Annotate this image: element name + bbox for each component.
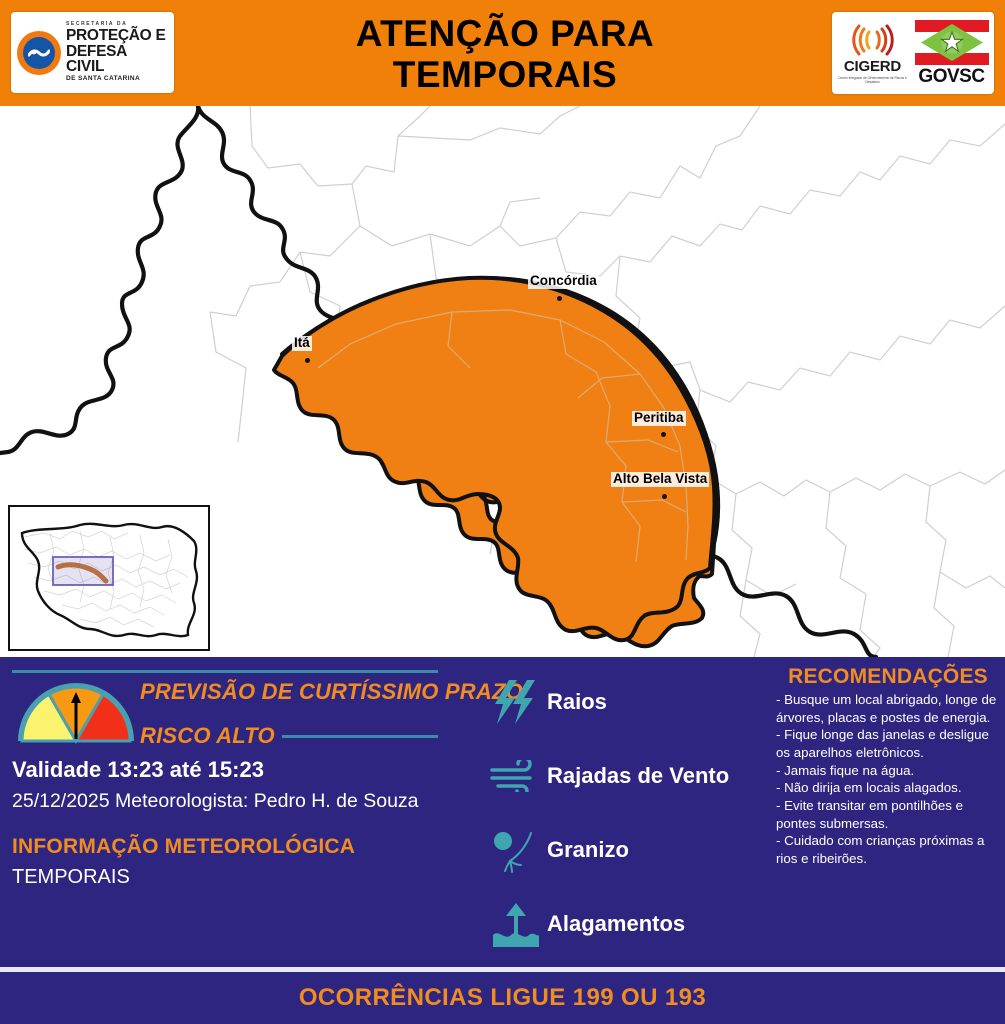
- santa-catarina-locator-map: [8, 505, 210, 651]
- cigerd-subtitle: Centro Integrado de Gerenciamento de Ris…: [838, 76, 908, 85]
- locator-extent-box: [53, 557, 113, 585]
- govsc-name: GOVSC: [915, 67, 989, 86]
- city-label-concordia: Concórdia: [528, 274, 599, 289]
- meteorological-info-title: INFORMAÇÃO METEOROLÓGICA: [12, 835, 355, 859]
- city-label-peritiba: Peritiba: [632, 411, 686, 426]
- santa-catarina-flag-icon: [915, 20, 989, 65]
- emergency-phone-text: OCORRÊNCIAS LIGUE 199 OU 193: [299, 984, 706, 1012]
- forecast-title: PREVISÃO DE CURTÍSSIMO PRAZO: [140, 679, 523, 705]
- city-dot-alto-bela-vista: [662, 494, 667, 499]
- alert-map[interactable]: Concórdia Itá Peritiba Alto Bela Vista: [0, 106, 1005, 657]
- logo-line-santa-catarina: DE SANTA CATARINA: [66, 76, 168, 83]
- page-title-line1: ATENÇÃO PARA: [356, 13, 655, 54]
- hazard-item-raios: Raios: [485, 669, 775, 735]
- cigerd-mark-icon: [838, 22, 908, 58]
- logo-line-protecao: PROTEÇÃO E: [66, 28, 168, 44]
- date-and-meteorologist: 25/12/2025 Meteorologista: Pedro H. de S…: [12, 790, 419, 813]
- civil-defense-mark-icon: [28, 46, 50, 60]
- locator-map-canvas: [10, 507, 208, 649]
- recommendation-item: - Jamais fique na água.: [776, 762, 1000, 780]
- recommendations-list: - Busque um local abrigado, longe de árv…: [776, 691, 1000, 868]
- lightning-bolt-icon: [485, 678, 547, 726]
- recommendations-block: RECOMENDAÇÕES - Busque um local abrigado…: [776, 665, 1000, 868]
- page-title: ATENÇÃO PARA TEMPORAIS: [190, 8, 820, 100]
- hazard-item-alagamentos: Alagamentos: [485, 891, 775, 957]
- defesa-civil-emblem-icon: [17, 31, 61, 75]
- city-dot-concordia: [557, 296, 562, 301]
- defesa-civil-logo: SECRETARIA DA PROTEÇÃO E DEFESA CIVIL DE…: [11, 12, 174, 93]
- hazard-item-rajadas-de-vento: Rajadas de Vento: [485, 743, 775, 809]
- city-dot-peritiba: [661, 432, 666, 437]
- hazard-list: Raios Rajadas de Vento: [485, 669, 775, 965]
- hazard-label-raios: Raios: [547, 689, 607, 715]
- divider-risco: [282, 735, 438, 738]
- defesa-civil-logo-text: SECRETARIA DA PROTEÇÃO E DEFESA CIVIL DE…: [66, 22, 168, 83]
- govsc-logo: GOVSC: [915, 20, 989, 86]
- recommendations-title: RECOMENDAÇÕES: [776, 665, 1000, 689]
- city-label-alto-bela-vista: Alto Bela Vista: [611, 472, 709, 487]
- recommendation-item: - Não dirija em locais alagados.: [776, 779, 1000, 797]
- hazard-label-granizo: Granizo: [547, 837, 629, 863]
- hazard-label-rajadas-de-vento: Rajadas de Vento: [547, 763, 729, 789]
- risk-gauge: [14, 679, 138, 745]
- meteorological-info-value: TEMPORAIS: [12, 866, 130, 889]
- recommendation-item: - Busque um local abrigado, longe de árv…: [776, 691, 1000, 726]
- logo-line-defesa-civil: DEFESA CIVIL: [66, 44, 168, 75]
- hazard-item-granizo: Granizo: [485, 817, 775, 883]
- alert-poster: SECRETARIA DA PROTEÇÃO E DEFESA CIVIL DE…: [0, 0, 1005, 1024]
- city-label-ita: Itá: [292, 336, 312, 351]
- govsc-suffix: SC: [959, 66, 984, 87]
- risk-level-title: RISCO ALTO: [140, 723, 275, 749]
- recommendation-item: - Fique longe das janelas e desligue os …: [776, 726, 1000, 761]
- wind-gust-icon: [485, 760, 547, 792]
- risk-gauge-svg: [14, 679, 138, 745]
- hail-icon: [485, 827, 547, 873]
- recommendation-item: - Evite transitar em pontilhões e pontes…: [776, 797, 1000, 832]
- validity-text: Validade 13:23 até 15:23: [12, 757, 264, 783]
- cigerd-logo: CIGERD Centro Integrado de Gerenciamento…: [838, 22, 908, 85]
- govsc-prefix: GOV: [918, 66, 959, 87]
- footer-bar: OCORRÊNCIAS LIGUE 199 OU 193: [0, 972, 1005, 1024]
- cigerd-name: CIGERD: [838, 59, 908, 74]
- header-bar: SECRETARIA DA PROTEÇÃO E DEFESA CIVIL DE…: [0, 0, 1005, 106]
- flood-icon: [485, 901, 547, 947]
- divider-top-left: [12, 670, 438, 673]
- info-panel: PREVISÃO DE CURTÍSSIMO PRAZO RISCO ALTO …: [0, 657, 1005, 967]
- partner-logos: CIGERD Centro Integrado de Gerenciamento…: [832, 12, 994, 94]
- city-dot-ita: [305, 358, 310, 363]
- hazard-label-alagamentos: Alagamentos: [547, 911, 685, 937]
- recommendation-item: - Cuidado com crianças próximas a rios e…: [776, 832, 1000, 867]
- page-title-line2: TEMPORAIS: [393, 54, 617, 95]
